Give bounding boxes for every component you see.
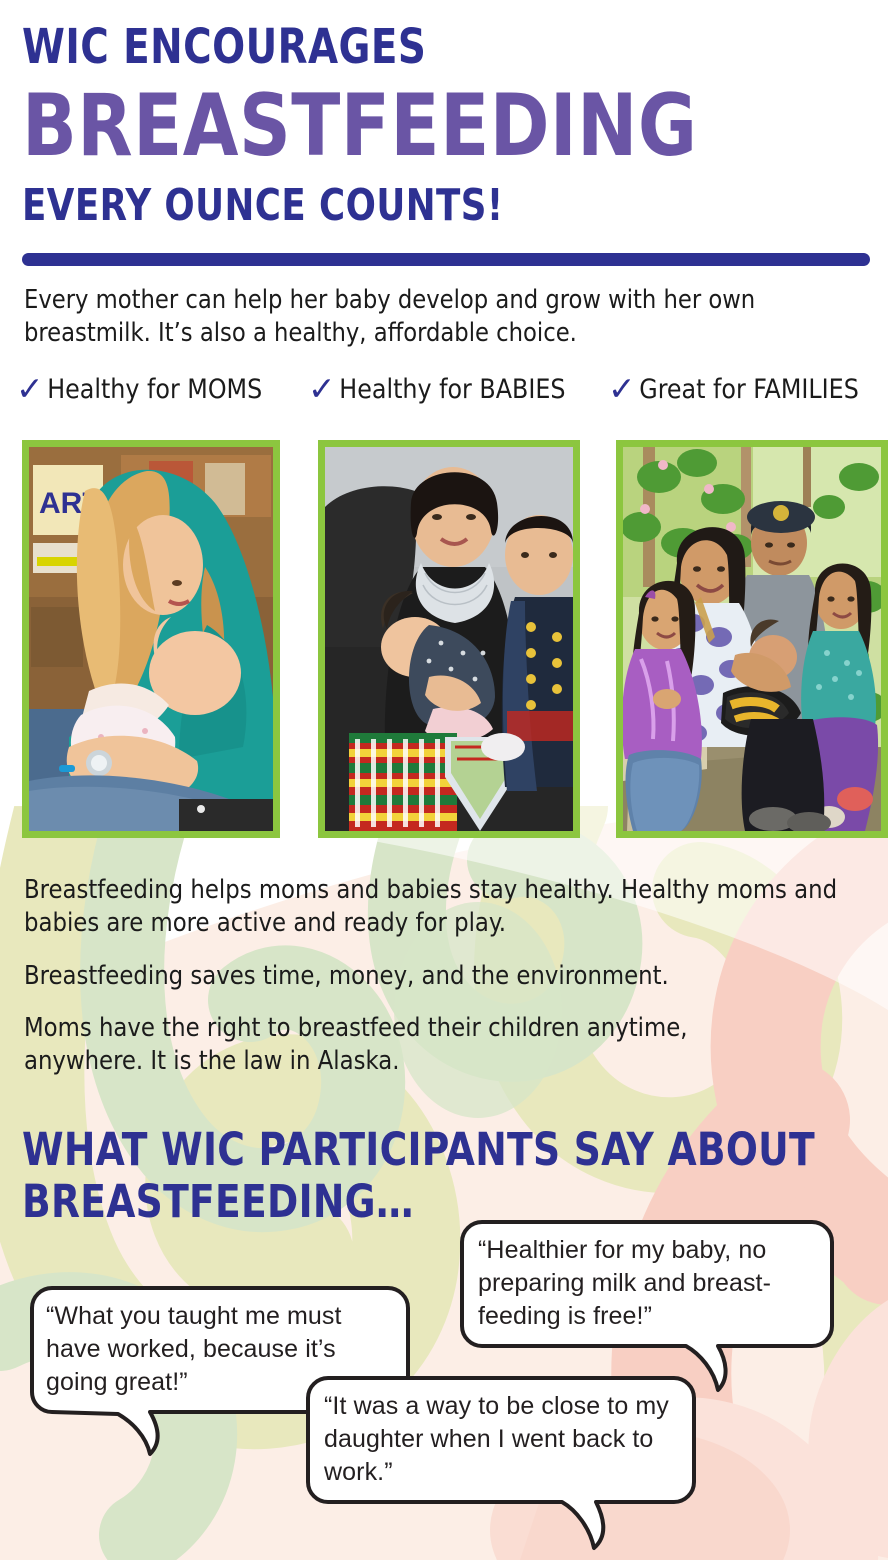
benefit-label: Healthy for MOMS [47, 374, 262, 405]
benefit-label: Great for FAMILIES [639, 374, 859, 405]
photo-gallery: ART [22, 440, 888, 838]
testimonial-quote: “It was a way to be close to my daughter… [324, 1390, 684, 1489]
benefits-row: ✓ Healthy for MOMS ✓ Healthy for BABIES … [16, 372, 888, 405]
testimonials-heading: WHAT WIC PARTICIPANTS SAY ABOUT BREASTFE… [22, 1124, 822, 1228]
speech-bubble-2: “Healthier for my baby, no preparing mil… [460, 1220, 834, 1390]
checkmark-icon: ✓ [16, 374, 44, 404]
testimonial-quote: “Healthier for my baby, no preparing mil… [478, 1234, 822, 1333]
benefit-label: Healthy for BABIES [339, 374, 565, 405]
checkmark-icon: ✓ [608, 374, 636, 404]
speech-bubble-3: “It was a way to be close to my daughter… [306, 1376, 696, 1546]
benefit-item-families: ✓ Great for FAMILIES [608, 372, 888, 405]
benefit-item-moms: ✓ Healthy for MOMS [16, 372, 308, 405]
infographic-page: WIC ENCOURAGES BREASTFEEDING EVERY OUNCE… [0, 0, 888, 1560]
header-divider-rule [22, 253, 870, 266]
body-paragraph-3: Moms have the right to breastfeed their … [24, 1012, 765, 1078]
photo-mother-and-infant-library: ART [22, 440, 280, 838]
page-title: BREASTFEEDING [22, 80, 697, 172]
body-paragraph-2: Breastfeeding saves time, money, and the… [24, 960, 853, 993]
intro-paragraph: Every mother can help her baby develop a… [24, 284, 839, 350]
benefit-item-babies: ✓ Healthy for BABIES [308, 372, 608, 405]
body-paragraph-1: Breastfeeding helps moms and babies stay… [24, 874, 855, 940]
photo-family-on-garden-bench [616, 440, 888, 838]
photo-mother-traditional-dress [318, 440, 580, 838]
header-eyebrow: WIC ENCOURAGES [22, 22, 426, 72]
header-subtitle: EVERY OUNCE COUNTS! [22, 182, 504, 230]
checkmark-icon: ✓ [308, 374, 336, 404]
